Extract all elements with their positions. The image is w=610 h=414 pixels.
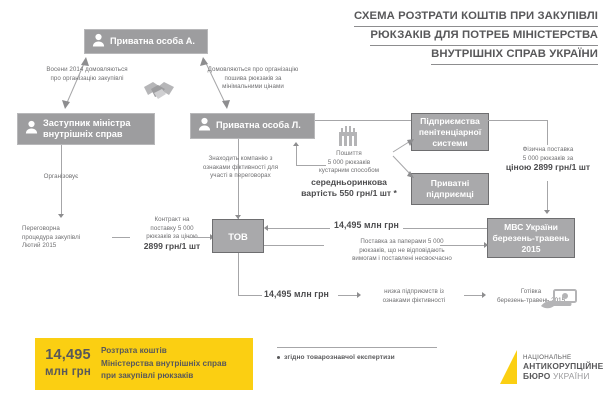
line-sewing-to-person-l — [296, 165, 326, 166]
line-tov-down-elbow — [238, 295, 262, 296]
footnote-bullet-icon — [277, 356, 280, 359]
arrowhead-up-person-l — [293, 142, 299, 146]
line-delivery-top — [547, 120, 548, 145]
note-finds-company: Знаходить компанію з ознаками фіктивност… — [188, 155, 293, 181]
line-contract-to-tov — [188, 237, 212, 238]
arrowhead-left-tov-money — [264, 225, 268, 231]
line-delivery-to-mvs — [547, 181, 548, 211]
note-shell-firms: низка підприємств із ознаками фіктивност… — [366, 288, 462, 305]
nabu-logo: НАЦІОНАЛЬНЕ АНТИКОРУПЦІЙНЕ БЮРО УКРАЇНИ — [500, 350, 603, 384]
footnote-text: згідно товарознавчої експертизи — [284, 354, 395, 361]
footnote: згідно товарознавчої експертизи — [277, 347, 437, 361]
arrowhead-right-cash — [482, 292, 486, 298]
note-physical-delivery: Фізична поставка 5 000 рюкзаків за ціною… — [489, 146, 607, 174]
line-person-l-to-enterprises — [315, 120, 413, 121]
arrowhead-down-procedure — [58, 214, 64, 218]
note-autumn-agreement: Восени 2014 домовляються про організацію… — [22, 66, 152, 83]
box-private-entrepreneurs[interactable]: Приватні підприємці — [411, 173, 489, 205]
amount-top: 14,495 млн грн — [330, 220, 403, 230]
note-contract-price: 2899 грн/1 шт — [144, 241, 200, 251]
summary-amount-unit: млн грн — [35, 364, 101, 381]
arrowhead-right-shell — [357, 292, 361, 298]
line-sewing-riser — [296, 146, 297, 165]
infographic-canvas: СХЕМА РОЗТРАТИ КОШТІВ ПРИ ЗАКУПІВЛІ РЮКЗ… — [0, 0, 610, 414]
line-paper-to-mvs — [440, 245, 487, 246]
note-sewing-agreement: Домовляються про організацію пошива рюкз… — [183, 66, 323, 92]
person-icon — [25, 120, 38, 138]
box-person-a-label: Приватна особа А. — [110, 36, 203, 48]
note-paper-delivery: Поставка за паперами 5 000 рюкзаків, що … — [322, 238, 482, 264]
box-deputy-minister-label: Заступник міністра внутрішніх справ — [43, 118, 139, 141]
arrowhead-down-mvs — [544, 210, 550, 214]
title-line-1: СХЕМА РОЗТРАТИ КОШТІВ ПРИ ЗАКУПІВЛІ — [354, 8, 598, 27]
note-sewing: Пошиття 5 000 рюкзаків кустарним способо… — [296, 150, 402, 176]
box-mvs-ukraine[interactable]: МВС України березень-травень 2015 — [487, 218, 575, 258]
box-person-l[interactable]: Приватна особа Л. — [190, 113, 315, 139]
title-line-2: РЮКЗАКІВ ДЛЯ ПОТРЕБ МІНІСТЕРСТВА — [370, 27, 598, 46]
cash-in-hand-icon — [540, 288, 578, 317]
sewing-factory-icon — [336, 126, 360, 153]
note-contract: Контракт на поставку 5 000 рюкзаків за ц… — [130, 216, 214, 252]
note-organizes: Організовує — [22, 173, 100, 182]
box-penitentiary-label: Підприємства пенітенціарної системи — [419, 116, 481, 149]
box-penitentiary-enterprises[interactable]: Підприємства пенітенціарної системи — [411, 113, 489, 151]
summary-amount: 14,495 млн грн — [35, 347, 101, 381]
box-tov-label: ТОВ — [228, 231, 248, 242]
summary-description: Розтрата коштів Міністерства внутрішніх … — [101, 345, 227, 383]
box-person-a[interactable]: Приватна особа А. — [84, 29, 208, 54]
title-line-3: ВНУТРІШНІХ СПРАВ УКРАЇНИ — [431, 46, 598, 65]
person-icon — [92, 33, 105, 51]
arrowhead-right-mvs-paper — [484, 242, 488, 248]
box-private-entrepreneurs-label: Приватні підприємці — [426, 178, 474, 200]
person-icon — [198, 117, 211, 135]
nabu-logo-mark — [500, 350, 517, 384]
box-deputy-minister[interactable]: Заступник міністра внутрішніх справ — [17, 113, 155, 145]
summary-callout: 14,495 млн грн Розтрата коштів Міністерс… — [35, 338, 253, 390]
amount-bottom: 14,495 млн грн — [264, 289, 329, 299]
line-shell-to-cash — [464, 295, 484, 296]
nabu-logo-text: НАЦІОНАЛЬНЕ АНТИКОРУПЦІЙНЕ БЮРО УКРАЇНИ — [523, 353, 603, 382]
box-mvs-label: МВС України березень-травень 2015 — [492, 222, 569, 255]
box-tov[interactable]: ТОВ — [212, 219, 264, 253]
nabu-logo-line3: БЮРО УКРАЇНИ — [523, 372, 603, 382]
box-person-l-label: Приватна особа Л. — [216, 120, 309, 132]
summary-amount-value: 14,495 — [45, 347, 91, 363]
page-title: СХЕМА РОЗТРАТИ КОШТІВ ПРИ ЗАКУПІВЛІ РЮКЗ… — [330, 8, 598, 65]
line-delivery-join — [488, 120, 548, 121]
line-tov-paper-start — [264, 245, 324, 246]
line-procedure-to-contract — [112, 237, 130, 238]
line-tov-down — [238, 253, 239, 295]
note-procurement-procedure: Переговорна процедура закупівлі Лютий 20… — [22, 225, 112, 251]
